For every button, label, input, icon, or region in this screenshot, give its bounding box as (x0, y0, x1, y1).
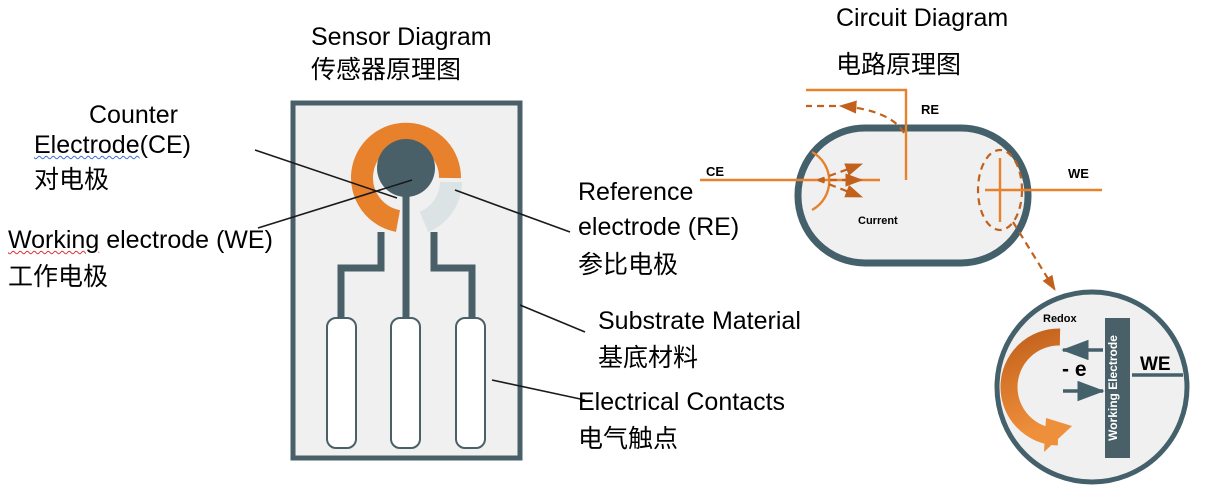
substrate-label-en: Substrate Material (598, 306, 801, 337)
diagram-canvas: Working Electrode Sensor Diagram 传感器原理图 … (0, 0, 1215, 494)
contact-pad (391, 318, 420, 448)
reference-electrode-label-line1: Reference (578, 177, 693, 208)
inset-redox-label: Redox (1043, 313, 1077, 326)
working-electrode-label-en: Working electrode (WE) (8, 225, 273, 256)
counter-electrode-label-line1: Counter (89, 100, 178, 131)
circuit-cell-body (798, 128, 1028, 263)
counter-electrode-label-word: Electrode (34, 131, 140, 159)
contact-pad (327, 318, 356, 448)
contact-pad (456, 318, 485, 448)
substrate-label-cn: 基底材料 (598, 343, 698, 374)
inset-we-label: WE (1140, 353, 1171, 376)
reference-electrode-label-cn: 参比电极 (578, 250, 678, 281)
redox-inset: Working Electrode (997, 292, 1187, 482)
working-electrode-label-word: Working (8, 226, 99, 254)
leader-substrate (520, 305, 585, 332)
counter-electrode-label-line2: Electrode(CE) (34, 130, 191, 161)
reference-electrode-label-line2: electrode (RE) (578, 212, 739, 243)
working-electrode-label-rest: electrode (WE) (99, 226, 273, 254)
inset-electrode-bar-label: Working Electrode (1106, 335, 1120, 441)
contacts-label-cn: 电气触点 (578, 424, 678, 455)
circuit-ce-label: CE (706, 164, 724, 180)
circuit-we-label: WE (1068, 166, 1089, 182)
circuit-title-cn: 电路原理图 (836, 50, 961, 81)
counter-electrode-label-cn: 对电极 (34, 165, 109, 196)
sensor-title-cn: 传感器原理图 (311, 55, 461, 86)
circuit-title-en: Circuit Diagram (836, 3, 1008, 34)
contacts-label-en: Electrical Contacts (578, 387, 785, 418)
circuit-re-label: RE (921, 102, 939, 118)
working-electrode-label-cn: 工作电极 (8, 262, 108, 293)
counter-electrode-label-abbr: (CE) (140, 131, 191, 159)
circuit-current-label: Current (858, 215, 898, 228)
electrical-contact-pads (327, 318, 485, 448)
inset-electron-label: - e (1062, 357, 1087, 383)
sensor-title-en: Sensor Diagram (311, 22, 492, 53)
